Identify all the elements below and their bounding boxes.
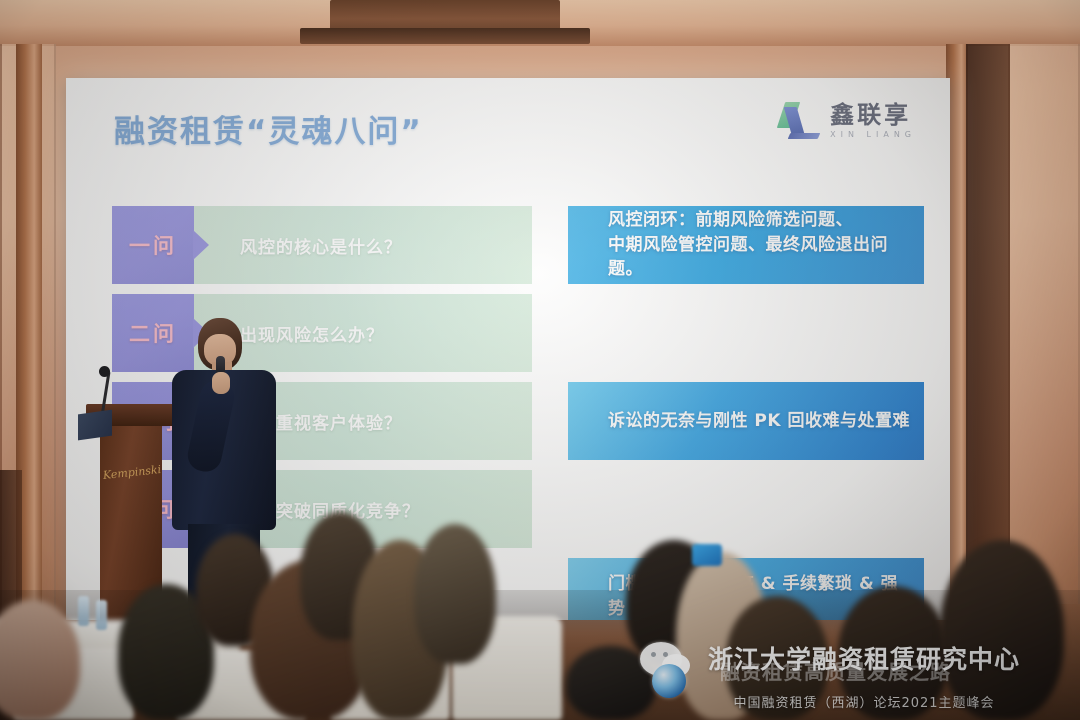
wall-column-right-dark bbox=[966, 44, 1010, 624]
watermark-subtitle: 中国融资租赁（西湖）论坛2021主题峰会 bbox=[708, 692, 1020, 711]
audience-phone bbox=[692, 544, 722, 566]
water-bottle bbox=[96, 600, 107, 630]
wall-panel-right bbox=[1008, 44, 1080, 604]
question-tag: 一问 bbox=[112, 206, 194, 284]
xinlian-logo-mark-icon bbox=[779, 100, 821, 142]
answer-line: 风控闭环：前期风险筛选问题、 bbox=[608, 208, 914, 233]
slide-title: 融资租赁“灵魂八问” bbox=[114, 106, 423, 151]
question-text: 风控的核心是什么？ bbox=[194, 206, 532, 284]
podium-laptop bbox=[78, 410, 112, 441]
logo-english-name: XIN LIANG bbox=[830, 131, 916, 139]
logo-chinese-name: 鑫联享 bbox=[830, 103, 916, 127]
answer-line: 中期风险管控问题、最终风险退出问题。 bbox=[608, 233, 914, 282]
water-bottle bbox=[78, 596, 89, 626]
qa-row: 一问 风控的核心是什么？ 风控闭环：前期风险筛选问题、 中期风险管控问题、最终风… bbox=[112, 206, 924, 284]
conference-photo: 融资租赁“灵魂八问” 鑫联享 XIN LIANG 一问 风控的核心是什么？ bbox=[0, 0, 1080, 720]
audience-person bbox=[414, 524, 496, 664]
globe-icon bbox=[652, 664, 686, 698]
speaker-hand bbox=[212, 372, 230, 394]
answer-box: 风控闭环：前期风险筛选问题、 中期风险管控问题、最终风险退出问题。 bbox=[568, 206, 924, 284]
watermark: 浙江大学融资租赁研究中心 融资租赁高质量发展之路 中国融资租赁（西湖）论坛202… bbox=[640, 634, 1080, 714]
podium-microphone-head bbox=[99, 366, 110, 377]
company-logo: 鑫联享 XIN LIANG bbox=[779, 100, 916, 142]
ceiling-block-secondary bbox=[300, 28, 590, 44]
watermark-ghost-text: 融资租赁高质量发展之路 bbox=[720, 656, 951, 685]
